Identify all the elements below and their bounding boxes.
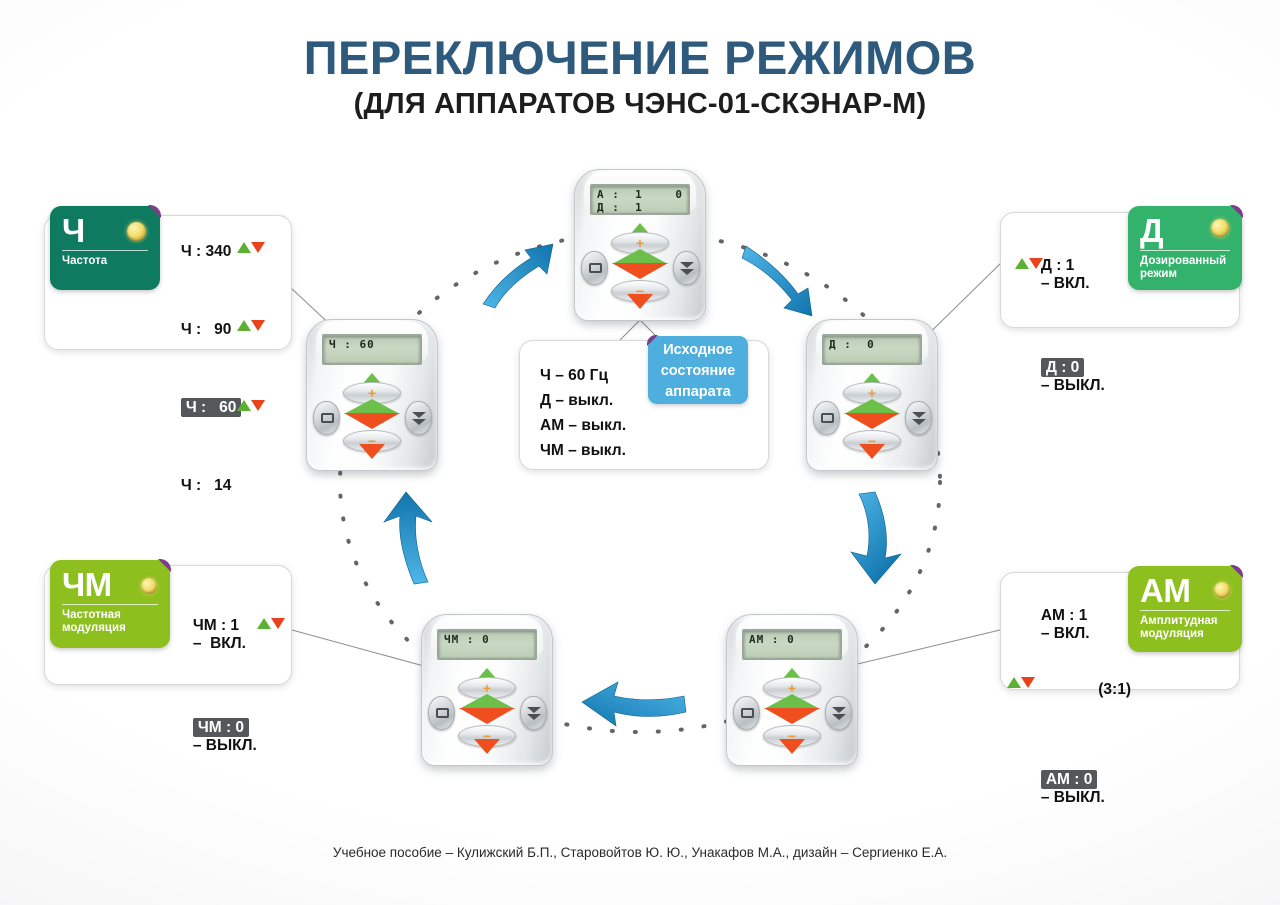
device-display: ЧМ : 0 bbox=[437, 629, 537, 660]
display-line1-left: Д : 0 bbox=[829, 338, 875, 351]
display-line1-right: 0 bbox=[675, 188, 683, 201]
indicator-led-icon bbox=[141, 578, 157, 594]
device-controls: + − bbox=[720, 668, 864, 768]
dose-on-row: Д : 1 – ВКЛ. bbox=[1015, 239, 1105, 329]
display-line1-left: ЧМ : 0 bbox=[444, 633, 490, 646]
am-on-text: – ВКЛ. bbox=[1041, 625, 1090, 642]
dose-values: Д : 1 – ВКЛ. Д : 0 – ВЫКЛ. bbox=[1015, 239, 1105, 413]
initial-state-tag: Исходное состояние аппарата bbox=[648, 336, 748, 404]
orange-triangle-icon bbox=[459, 708, 515, 724]
arrow-left-up bbox=[370, 490, 440, 586]
device-controls: + − bbox=[415, 668, 559, 768]
mode-button[interactable] bbox=[313, 401, 340, 435]
square-icon bbox=[436, 708, 449, 718]
down-arrow-icon bbox=[779, 739, 805, 754]
dose-off-row: Д : 0 – ВЫКЛ. bbox=[1015, 341, 1105, 413]
am-values: АМ : 1 – ВКЛ. (3:1) АМ : 0 – ВЫКЛ. bbox=[1015, 589, 1131, 825]
updown-arrows-icon bbox=[1015, 258, 1045, 269]
square-icon bbox=[321, 413, 334, 423]
frequency-value-row-selected: Ч : 60 bbox=[155, 381, 241, 453]
am-off-row: АМ : 0 – ВЫКЛ. bbox=[1015, 753, 1131, 825]
device-dose[interactable]: Д : 0 + − bbox=[800, 315, 944, 475]
frequency-value-highlighted: Ч : 60 bbox=[181, 398, 242, 417]
fm-off-label-highlighted: ЧМ : 0 bbox=[193, 718, 249, 737]
initial-state-line: АМ – выкл. bbox=[540, 413, 626, 438]
am-off-label-highlighted: АМ : 0 bbox=[1041, 770, 1098, 789]
arrow-top-left-up bbox=[465, 230, 555, 310]
mode-button[interactable] bbox=[813, 401, 840, 435]
page-header: ПЕРЕКЛЮЧЕНИЕ РЕЖИМОВ (ДЛЯ АППАРАТОВ ЧЭНС… bbox=[0, 34, 1280, 121]
divider bbox=[1140, 610, 1230, 611]
chevron-down-icon bbox=[680, 262, 694, 268]
chevron-down-icon bbox=[832, 707, 846, 713]
down-arrow-icon bbox=[359, 444, 385, 459]
device-fm[interactable]: ЧМ : 0 + − bbox=[415, 610, 559, 770]
mode-name: Частота bbox=[62, 255, 148, 268]
fm-on-label: ЧМ : 1 bbox=[193, 617, 239, 634]
indicator-led-icon bbox=[1211, 219, 1229, 237]
display-line1-left: АМ : 0 bbox=[749, 633, 795, 646]
fm-off-text: – ВЫКЛ. bbox=[193, 737, 257, 754]
display-line1-left: А : 1 bbox=[597, 188, 643, 201]
device-frequency[interactable]: Ч : 60 + − bbox=[300, 315, 444, 475]
chevron-down-icon bbox=[912, 412, 926, 418]
mode-button[interactable] bbox=[428, 696, 455, 730]
updown-arrows-icon bbox=[237, 400, 267, 411]
green-triangle-icon bbox=[764, 694, 820, 709]
green-triangle-icon bbox=[459, 694, 515, 709]
chevron-down-icon bbox=[527, 714, 541, 720]
updown-arrows-icon bbox=[237, 320, 267, 331]
mode-name: Дозированный режим bbox=[1140, 255, 1230, 281]
dose-on-text: – ВКЛ. bbox=[1041, 275, 1090, 292]
updown-arrows-icon bbox=[1007, 677, 1037, 688]
frequency-value: Ч : 14 bbox=[181, 477, 232, 494]
chevron-down-icon bbox=[412, 419, 426, 425]
fm-on-row: ЧМ : 1 – ВКЛ. bbox=[167, 599, 257, 689]
down-arrow-icon bbox=[627, 294, 653, 309]
down-arrow-icon bbox=[859, 444, 885, 459]
green-triangle-icon bbox=[844, 399, 900, 414]
page-subtitle: (ДЛЯ АППАРАТОВ ЧЭНС-01-СКЭНАР-М) bbox=[0, 88, 1280, 121]
chevron-down-icon bbox=[412, 412, 426, 418]
am-on-row: АМ : 1 – ВКЛ. bbox=[1015, 589, 1131, 661]
device-controls: + − bbox=[300, 373, 444, 473]
chevron-down-icon bbox=[832, 714, 846, 720]
green-triangle-icon bbox=[344, 399, 400, 414]
chevron-down-icon bbox=[912, 419, 926, 425]
orange-triangle-icon bbox=[764, 708, 820, 724]
orange-triangle-icon bbox=[844, 413, 900, 429]
initial-state-line: Ч – 60 Гц bbox=[540, 363, 626, 388]
corner-fold-icon bbox=[1230, 205, 1243, 218]
frequency-value: Ч : 90 bbox=[181, 321, 232, 338]
mode-card-fm: ЧМ Частотная модуляция bbox=[50, 560, 170, 648]
device-display: А : 10 Д : 1 bbox=[590, 184, 690, 215]
square-icon bbox=[821, 413, 834, 423]
mode-name: Частотная модуляция bbox=[62, 609, 158, 635]
corner-fold-icon bbox=[158, 559, 171, 572]
device-display: Ч : 60 bbox=[322, 334, 422, 365]
next-button[interactable] bbox=[520, 696, 547, 730]
arrow-bottom-left bbox=[580, 678, 690, 730]
mode-name: Амплитудная модуляция bbox=[1140, 615, 1230, 641]
corner-fold-icon bbox=[148, 205, 161, 218]
initial-state-line: ЧМ – выкл. bbox=[540, 438, 626, 463]
display-line2: Д : 1 bbox=[597, 201, 643, 214]
chevron-down-icon bbox=[680, 269, 694, 275]
next-button[interactable] bbox=[825, 696, 852, 730]
dose-on-label: Д : 1 bbox=[1041, 257, 1074, 274]
square-icon bbox=[589, 263, 602, 273]
device-controls: + − bbox=[800, 373, 944, 473]
orange-triangle-icon bbox=[344, 413, 400, 429]
mode-button[interactable] bbox=[733, 696, 760, 730]
am-off-text: – ВЫКЛ. bbox=[1041, 789, 1105, 806]
updown-arrows-icon bbox=[237, 242, 267, 253]
mode-card-am: АМ Амплитудная модуляция bbox=[1128, 566, 1242, 652]
indicator-led-icon bbox=[1214, 582, 1230, 598]
fm-values: ЧМ : 1 – ВКЛ. ЧМ : 0 – ВЫКЛ. bbox=[167, 599, 257, 773]
arrow-top-right-down bbox=[740, 238, 830, 318]
down-arrow-icon bbox=[474, 739, 500, 754]
divider bbox=[62, 250, 148, 251]
indicator-led-icon bbox=[127, 222, 146, 241]
am-ratio: (3:1) bbox=[1098, 681, 1131, 698]
mode-button[interactable] bbox=[581, 251, 608, 285]
frequency-value-row: Ч : 14 bbox=[155, 459, 241, 513]
frequency-value-row: Ч : 340 bbox=[155, 225, 241, 297]
fm-off-row: ЧМ : 0 – ВЫКЛ. bbox=[167, 701, 257, 773]
am-on-label: АМ : 1 bbox=[1041, 607, 1088, 624]
green-triangle-icon bbox=[612, 249, 668, 264]
dose-off-label-highlighted: Д : 0 bbox=[1041, 358, 1084, 377]
device-am[interactable]: АМ : 0 + − bbox=[720, 610, 864, 770]
divider bbox=[1140, 250, 1230, 251]
initial-state-line: Д – выкл. bbox=[540, 388, 626, 413]
frequency-value: Ч : 340 bbox=[181, 243, 232, 260]
arrow-right-down bbox=[845, 490, 915, 586]
am-ratio-row: (3:1) bbox=[1015, 663, 1131, 735]
frequency-values: Ч : 340 Ч : 90 Ч : 60 Ч : 14 bbox=[155, 225, 241, 513]
dose-off-text: – ВЫКЛ. bbox=[1041, 377, 1105, 394]
display-line1-left: Ч : 60 bbox=[329, 338, 375, 351]
device-controls: + − bbox=[568, 223, 712, 323]
chevron-down-icon bbox=[527, 707, 541, 713]
device-display: АМ : 0 bbox=[742, 629, 842, 660]
device-display: Д : 0 bbox=[822, 334, 922, 365]
page-title: ПЕРЕКЛЮЧЕНИЕ РЕЖИМОВ bbox=[0, 34, 1280, 81]
corner-fold-icon bbox=[647, 335, 658, 346]
fm-on-text: – ВКЛ. bbox=[193, 635, 246, 652]
initial-state-list: Ч – 60 Гц Д – выкл. АМ – выкл. ЧМ – выкл… bbox=[540, 363, 626, 463]
frequency-value-row: Ч : 90 bbox=[155, 303, 241, 375]
mode-card-frequency: Ч Частота bbox=[50, 206, 160, 290]
mode-card-dose: Д Дозированный режим bbox=[1128, 206, 1242, 290]
footer-credits: Учебное пособие – Кулижский Б.П., Старов… bbox=[0, 845, 1280, 860]
device-top[interactable]: А : 10 Д : 1 + − bbox=[568, 165, 712, 325]
corner-fold-icon bbox=[1230, 565, 1243, 578]
next-button[interactable] bbox=[405, 401, 432, 435]
next-button[interactable] bbox=[673, 251, 700, 285]
divider bbox=[62, 604, 158, 605]
square-icon bbox=[741, 708, 754, 718]
orange-triangle-icon bbox=[612, 263, 668, 279]
next-button[interactable] bbox=[905, 401, 932, 435]
updown-arrows-icon bbox=[257, 618, 287, 629]
